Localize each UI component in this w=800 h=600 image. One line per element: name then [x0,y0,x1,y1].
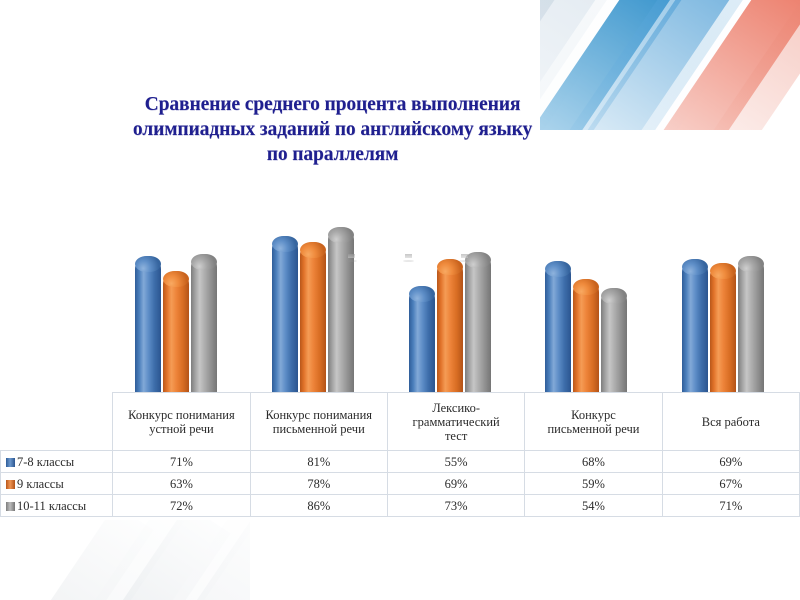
bar-cap [163,271,189,287]
ribbon-stripe [605,0,800,130]
cell-r2c4: 71% [662,495,799,517]
column-header-2: Лексико- грамматический тест [387,393,524,451]
cell-r0c2: 55% [387,451,524,473]
bar-cap [300,242,326,258]
ribbon-stripe [627,0,800,130]
row-label-text: 10-11 классы [17,499,86,513]
cell-r1c4: 67% [662,473,799,495]
bar-cap [738,256,764,272]
bar-3-0 [545,261,571,392]
column-header-line: грамматический [413,415,500,429]
bar-2-2 [465,252,491,392]
column-header-line: письменной речи [273,422,365,436]
bottom-left-ribbon-decoration [0,520,250,600]
cell-r2c0: 72% [113,495,250,517]
bar-1-1 [300,242,326,392]
row-label-2: 10-11 классы [1,495,113,517]
bar-cap [191,254,217,270]
bar-cap [710,263,736,279]
bar-cap [682,259,708,275]
bar-1-0 [272,236,298,392]
gray-swatch-icon [6,502,15,511]
row-label-0: 7-8 классы [1,451,113,473]
ribbon-stripe [677,0,800,130]
bar-3-2 [601,288,627,392]
chart-data-table: Конкурс понимания устной речи Конкурс по… [0,392,800,517]
column-header-line: тест [445,429,467,443]
ribbon-stripe [116,520,250,600]
cylinder-bar-chart [0,196,800,392]
slide-title: Сравнение среднего процента выполнения о… [60,92,605,167]
bar-group-2 [402,196,498,392]
bar-2-1 [437,259,463,392]
column-header-line: письменной речи [547,422,639,436]
column-header-line: Лексико- [432,401,480,415]
row-label-text: 7-8 классы [17,455,74,469]
column-header-0: Конкурс понимания устной речи [113,393,250,451]
table-corner-cell [1,393,113,451]
ribbon-stripe [0,520,154,600]
title-line-1: Сравнение среднего процента выполнения [60,92,605,117]
cell-r2c3: 54% [525,495,662,517]
bar-cap [328,227,354,243]
table-header-row: Конкурс понимания устной речи Конкурс по… [1,393,800,451]
bar-4-1 [710,263,736,392]
orange-swatch-icon [6,480,15,489]
residual-mark-1 [405,254,412,258]
cell-r1c3: 59% [525,473,662,495]
column-header-4: Вся работа [662,393,799,451]
row-label-1: 9 классы [1,473,113,495]
cell-r0c1: 81% [250,451,387,473]
bar-0-1 [163,271,189,392]
bar-cap [135,256,161,272]
bar-1-2 [328,227,354,392]
bar-4-0 [682,259,708,392]
bar-4-2 [738,256,764,392]
bar-cap [272,236,298,252]
residual-mark-2 [461,254,468,258]
bar-cap [545,261,571,277]
ribbon-stripe [92,520,250,600]
bar-cap [601,288,627,304]
row-label-text: 9 классы [17,477,64,491]
table-row: 10-11 классы 72% 86% 73% 54% 71% [1,495,800,517]
bar-cap [409,286,435,302]
cell-r1c2: 69% [387,473,524,495]
bar-group-4 [675,196,771,392]
cell-r0c0: 71% [113,451,250,473]
column-header-line: Конкурс [571,408,616,422]
title-line-2: олимпиадных заданий по английскому языку [60,117,605,142]
bar-3-1 [573,279,599,392]
column-header-line: Конкурс понимания [128,408,235,422]
column-header-1: Конкурс понимания письменной речи [250,393,387,451]
ribbon-stripe [42,520,231,600]
bar-group-0 [128,196,224,392]
bar-0-0 [135,256,161,392]
cell-r1c0: 63% [113,473,250,495]
cell-r0c3: 68% [525,451,662,473]
table-row: 7-8 классы 71% 81% 55% 68% 69% [1,451,800,473]
bar-0-2 [191,254,217,392]
column-header-line: Вся работа [702,415,760,429]
title-line-3: по параллелям [60,142,605,167]
bar-group-3 [538,196,634,392]
cell-r2c1: 86% [250,495,387,517]
cell-r2c2: 73% [387,495,524,517]
table-row: 9 классы 63% 78% 69% 59% 67% [1,473,800,495]
bar-cap [573,279,599,295]
bar-2-0 [409,286,435,392]
cell-r1c1: 78% [250,473,387,495]
column-header-line: устной речи [149,422,213,436]
residual-mark-0 [348,254,355,258]
column-header-3: Конкурс письменной речи [525,393,662,451]
bar-group-1 [265,196,361,392]
cell-r0c4: 69% [662,451,799,473]
ribbon-stripe [14,520,184,600]
blue-swatch-icon [6,458,15,467]
column-header-line: Конкурс понимания [266,408,373,422]
